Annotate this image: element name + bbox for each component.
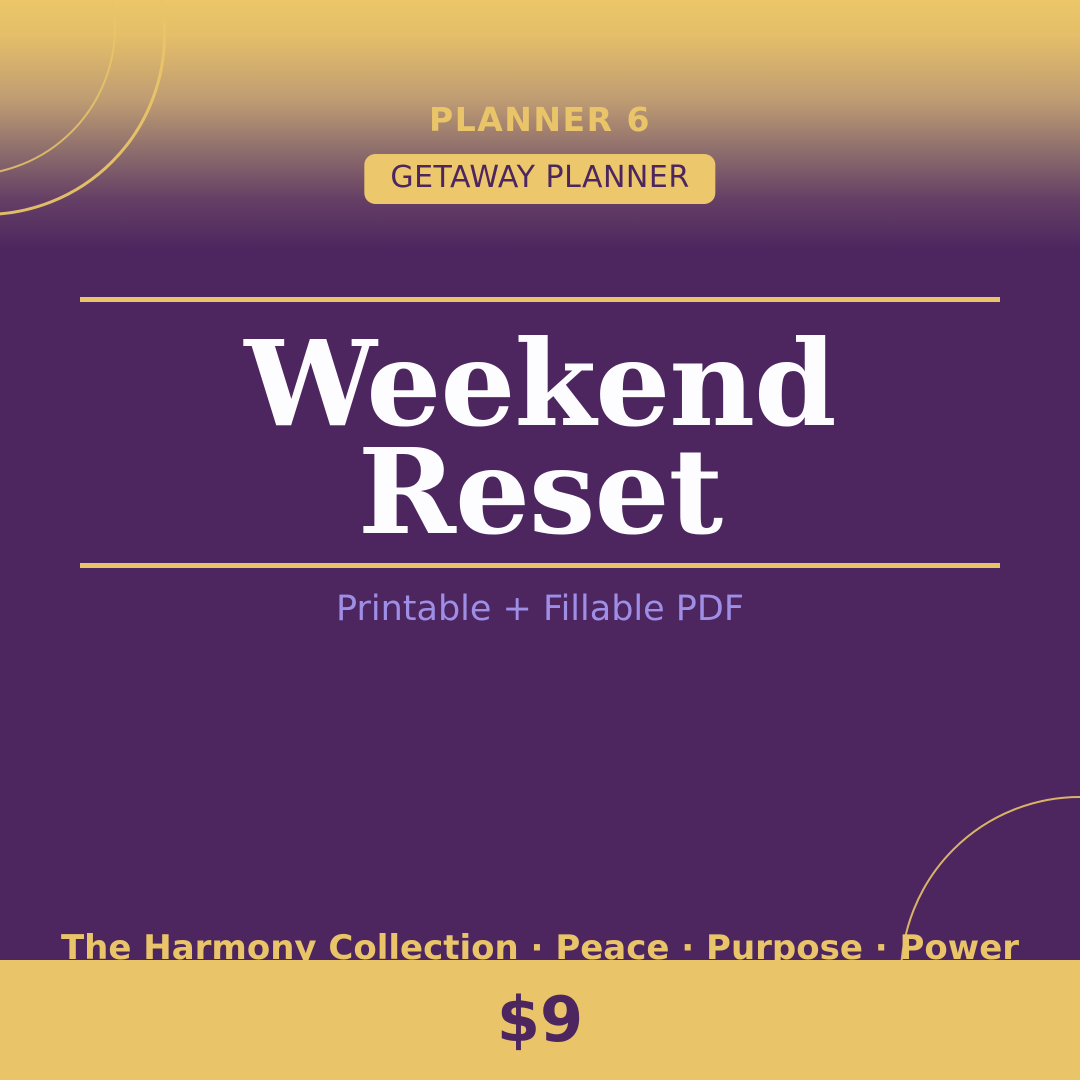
divider-bottom	[80, 563, 1000, 568]
page-title: Weekend Reset	[0, 330, 1080, 546]
page-title-line-2: Reset	[0, 438, 1080, 546]
poster-content: PLANNER 6 GETAWAY PLANNER Weekend Reset …	[0, 0, 1080, 1080]
planner-number-kicker: PLANNER 6	[0, 100, 1080, 140]
divider-top	[80, 297, 1000, 302]
price-bar[interactable]: $9	[0, 960, 1080, 1080]
format-subtitle: Printable + Fillable PDF	[0, 588, 1080, 630]
planner-type-badge[interactable]: GETAWAY PLANNER	[364, 154, 715, 204]
price-value: $9	[497, 985, 583, 1055]
product-poster: PLANNER 6 GETAWAY PLANNER Weekend Reset …	[0, 0, 1080, 1080]
